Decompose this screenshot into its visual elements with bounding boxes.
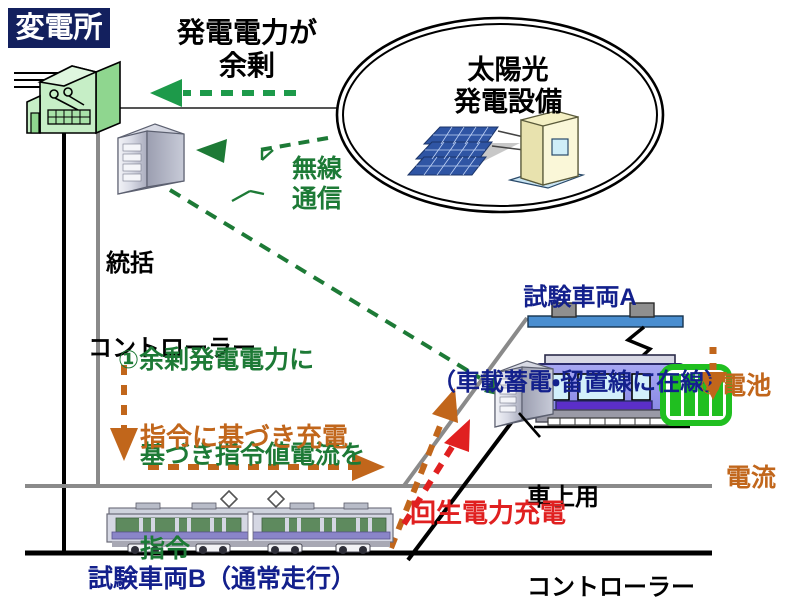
onboard-controller-label-line2: コントローラー — [527, 573, 695, 603]
surplus-power-label: 発電電力が 余剰 — [152, 16, 342, 82]
step1-line1: ①余剰発電電力に — [118, 345, 418, 377]
integrated-controller-cabinet-icon — [118, 124, 184, 194]
step2-battery-current-label: ②電池 電流 — [700, 310, 800, 554]
substation-badge: 変電所 — [8, 8, 110, 48]
integrated-controller-label-line1: 統括 — [88, 250, 288, 278]
inverter-cabinet-icon — [510, 111, 583, 188]
pv-equipment-label: 太陽光 発電設備 — [410, 55, 606, 119]
vehicle-b-label: 試験車両B（通常走行） — [88, 565, 356, 595]
substation-building-icon — [14, 62, 120, 133]
regenerative-charge-label: 回生電力充電 — [410, 498, 566, 529]
vehicle-a-label: 試験車両A （車載蓄電・留置線に在線） — [410, 227, 750, 454]
step2-line1: ②電池 — [700, 371, 800, 402]
charge-on-command-label: 指令に基づき充電 — [140, 422, 348, 453]
vehicle-a-label-line2: （車載蓄電・留置線に在線） — [410, 369, 750, 397]
step2-line2: 電流 — [700, 463, 800, 494]
vehicle-a-label-line1: 試験車両A — [410, 284, 750, 312]
diagram-canvas: 変電所 発電電力が 余剰 太陽光 発電設備 無線 通信 統括 コントローラー 試… — [0, 0, 800, 607]
step1-line3: 指令 — [118, 534, 418, 566]
surplus-power-arrow — [150, 79, 296, 107]
